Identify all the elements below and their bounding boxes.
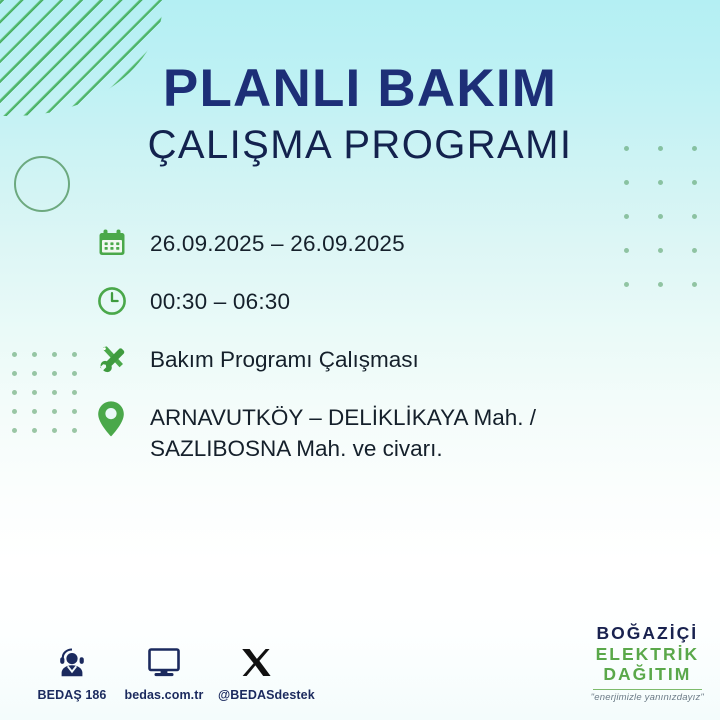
headset-support-icon (28, 637, 116, 681)
brand-line-1: BOĞAZİÇİ (591, 625, 704, 643)
calendar-icon (96, 224, 134, 262)
brand-logo: BOĞAZİÇİ ELEKTRİK DAĞITIM "enerjimizle y… (591, 625, 704, 702)
detail-date-value: 26.09.2025 – 26.09.2025 (134, 224, 405, 259)
maintenance-details: 26.09.2025 – 26.09.2025 00:30 – 06:30 (96, 224, 656, 484)
contact-item-x-account[interactable]: @BEDASdestek (212, 637, 300, 702)
page-title: PLANLI BAKIM (0, 60, 720, 118)
tools-icon (96, 340, 134, 378)
detail-time-value: 00:30 – 06:30 (134, 282, 290, 317)
poster-headline: PLANLI BAKIM ÇALIŞMA PROGRAMI (0, 60, 720, 168)
detail-location-line-2: SAZLIBOSNA Mah. ve civarı. (150, 433, 536, 464)
contact-label-call-center: BEDAŞ 186 (28, 688, 116, 702)
detail-location-line-1: ARNAVUTKÖY – DELİKLİKAYA Mah. / (150, 402, 536, 433)
contact-label-website: bedas.com.tr (120, 688, 208, 702)
map-pin-icon (96, 398, 134, 438)
brand-divider (593, 689, 702, 690)
planned-maintenance-poster: PLANLI BAKIM ÇALIŞMA PROGRAMI (0, 0, 720, 720)
detail-row-time: 00:30 – 06:30 (96, 282, 656, 320)
page-subtitle: ÇALIŞMA PROGRAMI (0, 122, 720, 168)
brand-line-2: ELEKTRİK (591, 646, 704, 664)
x-twitter-icon (212, 637, 300, 681)
detail-location-value: ARNAVUTKÖY – DELİKLİKAYA Mah. / SAZLIBOS… (134, 398, 536, 464)
monitor-website-icon (120, 637, 208, 681)
dot-grid-left-decoration (12, 352, 92, 447)
footer-contacts: BEDAŞ 186 bedas.com.tr @BEDASdestek (28, 637, 304, 702)
brand-line-3: DAĞITIM (591, 666, 704, 684)
clock-icon (96, 282, 134, 320)
contact-item-website[interactable]: bedas.com.tr (120, 637, 208, 702)
detail-row-location: ARNAVUTKÖY – DELİKLİKAYA Mah. / SAZLIBOS… (96, 398, 656, 464)
contact-label-x-account: @BEDASdestek (218, 688, 300, 702)
contact-item-call-center[interactable]: BEDAŞ 186 (28, 637, 116, 702)
brand-tagline: "enerjimizle yanınızdayız" (591, 693, 704, 703)
detail-work-type-value: Bakım Programı Çalışması (134, 340, 419, 375)
detail-row-work-type: Bakım Programı Çalışması (96, 340, 656, 378)
detail-row-date: 26.09.2025 – 26.09.2025 (96, 224, 656, 262)
